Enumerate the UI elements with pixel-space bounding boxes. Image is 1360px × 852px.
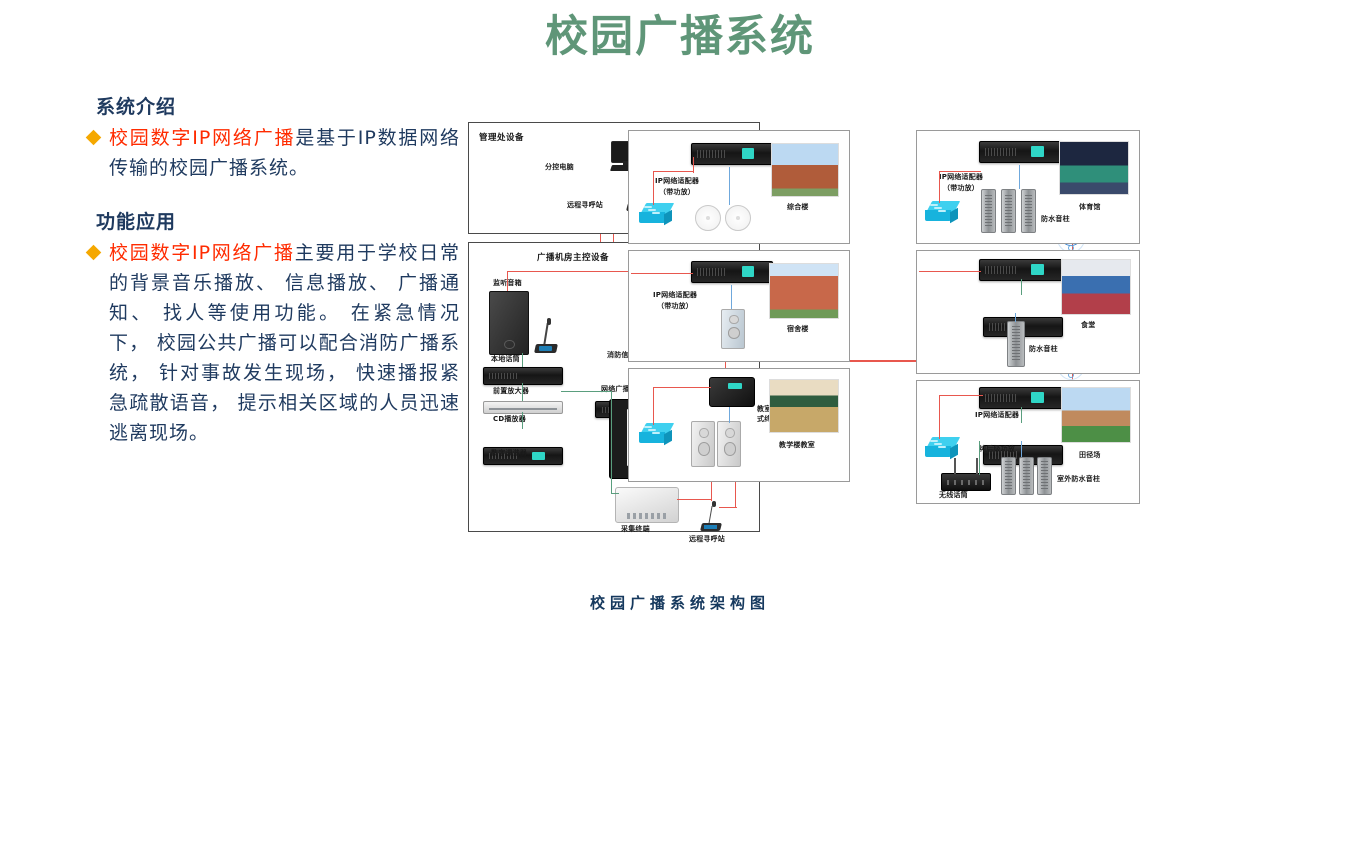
network-switch-icon	[639, 203, 673, 225]
ip-network-adapter-image	[979, 259, 1063, 281]
network-cloud-icon	[558, 818, 586, 852]
label-ip-adapter-gym-sub: （带功放）	[943, 184, 979, 193]
label-remote-pager: 远程寻呼站	[567, 201, 603, 210]
label-ip-adapter-office: IP网络适配器	[655, 177, 699, 186]
ip-network-adapter-image	[691, 261, 773, 283]
box-title-control-room: 广播机房主控设备	[537, 251, 609, 263]
network-switch-icon	[925, 437, 959, 459]
waterproof-column-speaker-image	[1021, 189, 1036, 233]
acquisition-terminal-image	[615, 487, 679, 523]
label-office-building: 综合楼	[787, 203, 809, 212]
ceiling-speaker-image	[725, 205, 751, 231]
diagram-caption: 校园广播系统架构图	[0, 592, 1360, 613]
page-title: 校园广播系统	[0, 2, 1360, 64]
label-waterproof-speaker-canteen: 防水音柱	[1029, 345, 1058, 354]
label-canteen: 食堂	[1081, 321, 1095, 330]
ip-network-adapter-image	[979, 387, 1063, 409]
label-sports-field: 田径场	[1079, 451, 1101, 460]
label-acquisition-terminal: 采集终端	[621, 525, 650, 534]
label-local-mic: 本地话筒	[491, 355, 520, 364]
network-switch-icon	[639, 423, 673, 445]
label-remote-pager-control-room: 远程寻呼站	[689, 535, 725, 544]
sports-field-photo	[1061, 387, 1131, 443]
diamond-bullet-icon	[86, 245, 102, 261]
waterproof-column-speaker-image	[1007, 321, 1025, 367]
label-cd-player: CD播放器	[493, 415, 526, 424]
classroom-photo	[769, 379, 839, 433]
label-classroom: 教学楼教室	[779, 441, 815, 450]
intro-text-column: 系统介绍 校园数字IP网络广播是基于IP数据网络传输的校园广播系统。 功能应用 …	[88, 92, 460, 448]
ip-network-adapter-image	[691, 143, 773, 165]
remote-paging-station-image	[701, 497, 725, 531]
box-sports-field: IP网络适配器 纯后级功放 无线话筒 室外防水音柱 田径场	[916, 380, 1140, 504]
box-gymnasium: IP网络适配器 （带功放） 防水音柱 体育馆	[916, 130, 1140, 244]
intro-highlight: 校园数字IP网络广播	[109, 127, 295, 149]
label-power-amp-field: 纯后级功放	[979, 445, 1015, 454]
wall-speaker-image	[721, 309, 745, 349]
functions-body: 主要用于学校日常的背景音乐播放、 信息播放、 广播通知、 找人等使用功能。 在紧…	[109, 242, 460, 444]
section-heading-intro: 系统介绍	[96, 92, 460, 119]
outdoor-waterproof-column-image	[1037, 457, 1052, 495]
label-ip-adapter-dorm: IP网络适配器	[653, 291, 697, 300]
label-ip-adapter-gym: IP网络适配器	[939, 173, 983, 182]
section-heading-functions: 功能应用	[96, 207, 460, 234]
waterproof-column-speaker-image	[1001, 189, 1016, 233]
outdoor-waterproof-column-image	[1019, 457, 1034, 495]
label-ip-adapter-office-sub: （带功放）	[659, 188, 695, 197]
bullet-item-functions: 校园数字IP网络广播主要用于学校日常的背景音乐播放、 信息播放、 广播通知、 找…	[88, 238, 460, 448]
label-wireless-mic: 无线话筒	[939, 491, 968, 500]
box-title-management: 管理处设备	[479, 131, 524, 143]
classroom-wall-terminal-image	[709, 377, 755, 407]
local-microphone-image	[535, 313, 559, 353]
label-preamp: 前置放大器	[493, 387, 529, 396]
label-waterproof-speaker-gym: 防水音柱	[1041, 215, 1070, 224]
label-ip-adapter-dorm-sub: （带功放）	[657, 302, 693, 311]
label-control-computer: 分控电脑	[545, 163, 574, 172]
intro-paragraph: 校园数字IP网络广播是基于IP数据网络传输的校园广播系统。	[109, 123, 460, 183]
bullet-item-intro: 校园数字IP网络广播是基于IP数据网络传输的校园广播系统。	[88, 123, 460, 183]
dormitory-photo	[769, 263, 839, 319]
box-dormitory-building: IP网络适配器 （带功放） 宿舍楼	[628, 250, 850, 362]
functions-paragraph: 校园数字IP网络广播主要用于学校日常的背景音乐播放、 信息播放、 广播通知、 找…	[109, 238, 460, 448]
functions-highlight: 校园数字IP网络广播	[109, 242, 295, 264]
label-dormitory: 宿舍楼	[787, 325, 809, 334]
outdoor-waterproof-column-image	[1001, 457, 1016, 495]
waterproof-column-speaker-image	[981, 189, 996, 233]
ceiling-speaker-image	[695, 205, 721, 231]
gymnasium-photo	[1059, 141, 1129, 195]
label-ip-adapter-field: IP网络适配器	[975, 411, 1019, 420]
office-building-photo	[771, 143, 839, 197]
monitor-speaker-image	[489, 291, 529, 355]
wall-speaker-image	[717, 421, 741, 467]
label-digital-tuner: 数字调谐器	[491, 449, 527, 458]
wireless-microphone-image	[941, 473, 991, 491]
box-classroom-building: 教室壁挂 式终端 教学楼教室	[628, 368, 850, 482]
system-architecture-diagram: 管理处设备 分控电脑 远程寻呼站 交换机 广播机房主控设备 监听音箱 本地话筒	[460, 112, 1360, 542]
diamond-bullet-icon	[86, 130, 102, 146]
box-canteen: 防水音柱 食堂	[916, 250, 1140, 374]
canteen-photo	[1061, 259, 1131, 315]
box-office-building: IP网络适配器 （带功放） 综合楼	[628, 130, 850, 244]
network-switch-icon	[925, 201, 959, 223]
ip-network-adapter-image	[979, 141, 1063, 163]
wall-speaker-image	[691, 421, 715, 467]
label-gymnasium: 体育馆	[1079, 203, 1101, 212]
label-outdoor-speaker: 室外防水音柱	[1057, 475, 1100, 484]
